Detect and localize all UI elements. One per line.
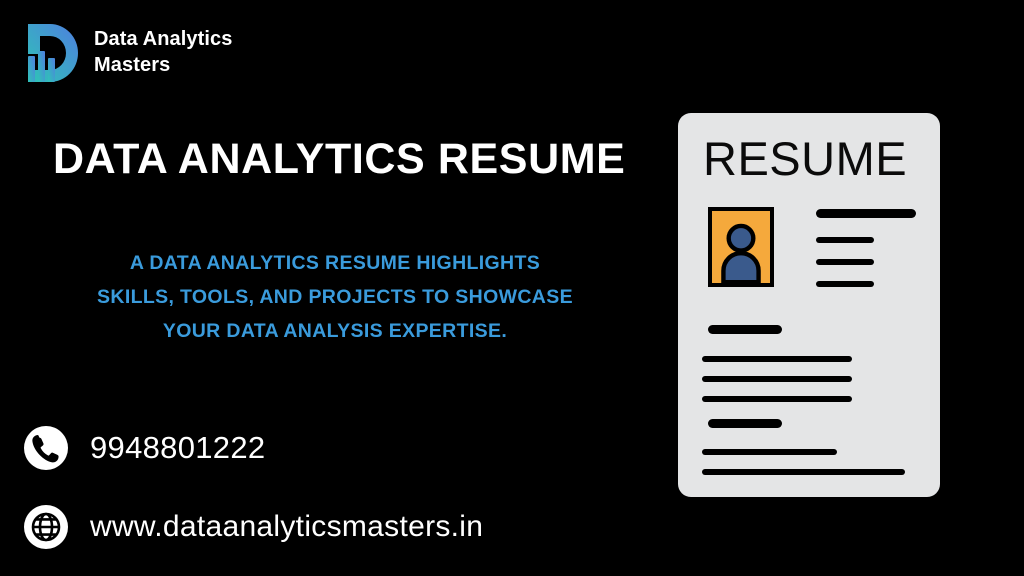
contact-phone[interactable]: 9948801222 [22,424,265,472]
subtitle-line-1: A DATA ANALYTICS RESUME HIGHLIGHTS [40,246,630,280]
resume-header-line-1 [816,209,916,218]
resume-body-line-2 [702,356,852,362]
promotional-banner: Data Analytics Masters DATA ANALYTICS RE… [0,0,1024,576]
phone-number: 9948801222 [90,430,265,466]
phone-icon [22,424,70,472]
subtitle-line-3: YOUR DATA ANALYSIS EXPERTISE. [40,314,630,348]
website-url: www.dataanalyticsmasters.in [90,510,483,544]
brand-name-line-1: Data Analytics [94,27,233,53]
resume-card: RESUME [678,113,940,497]
resume-body-line-3 [702,376,852,382]
subtitle-line-2: SKILLS, TOOLS, AND PROJECTS TO SHOWCASE [40,280,630,314]
resume-body-line-1 [708,325,782,334]
globe-icon [22,503,70,551]
resume-header-line-4 [816,281,874,287]
brand-name-line-2: Masters [94,53,233,79]
resume-photo-frame [708,207,774,287]
resume-header-line-3 [816,259,874,265]
resume-body-line-4 [702,396,852,402]
page-title: DATA ANALYTICS RESUME [53,135,625,184]
person-avatar-icon [712,211,770,283]
resume-body-line-5 [708,419,782,428]
contact-website[interactable]: www.dataanalyticsmasters.in [22,503,483,551]
resume-body-line-7 [702,469,905,475]
data-analytics-d-logo-icon [20,20,82,86]
subtitle-text: A DATA ANALYTICS RESUME HIGHLIGHTS SKILL… [40,246,630,348]
brand-logo: Data Analytics Masters [20,20,233,86]
resume-body-line-6 [702,449,837,455]
brand-wordmark: Data Analytics Masters [94,27,233,78]
resume-card-title: RESUME [703,135,907,182]
resume-header-line-2 [816,237,874,243]
